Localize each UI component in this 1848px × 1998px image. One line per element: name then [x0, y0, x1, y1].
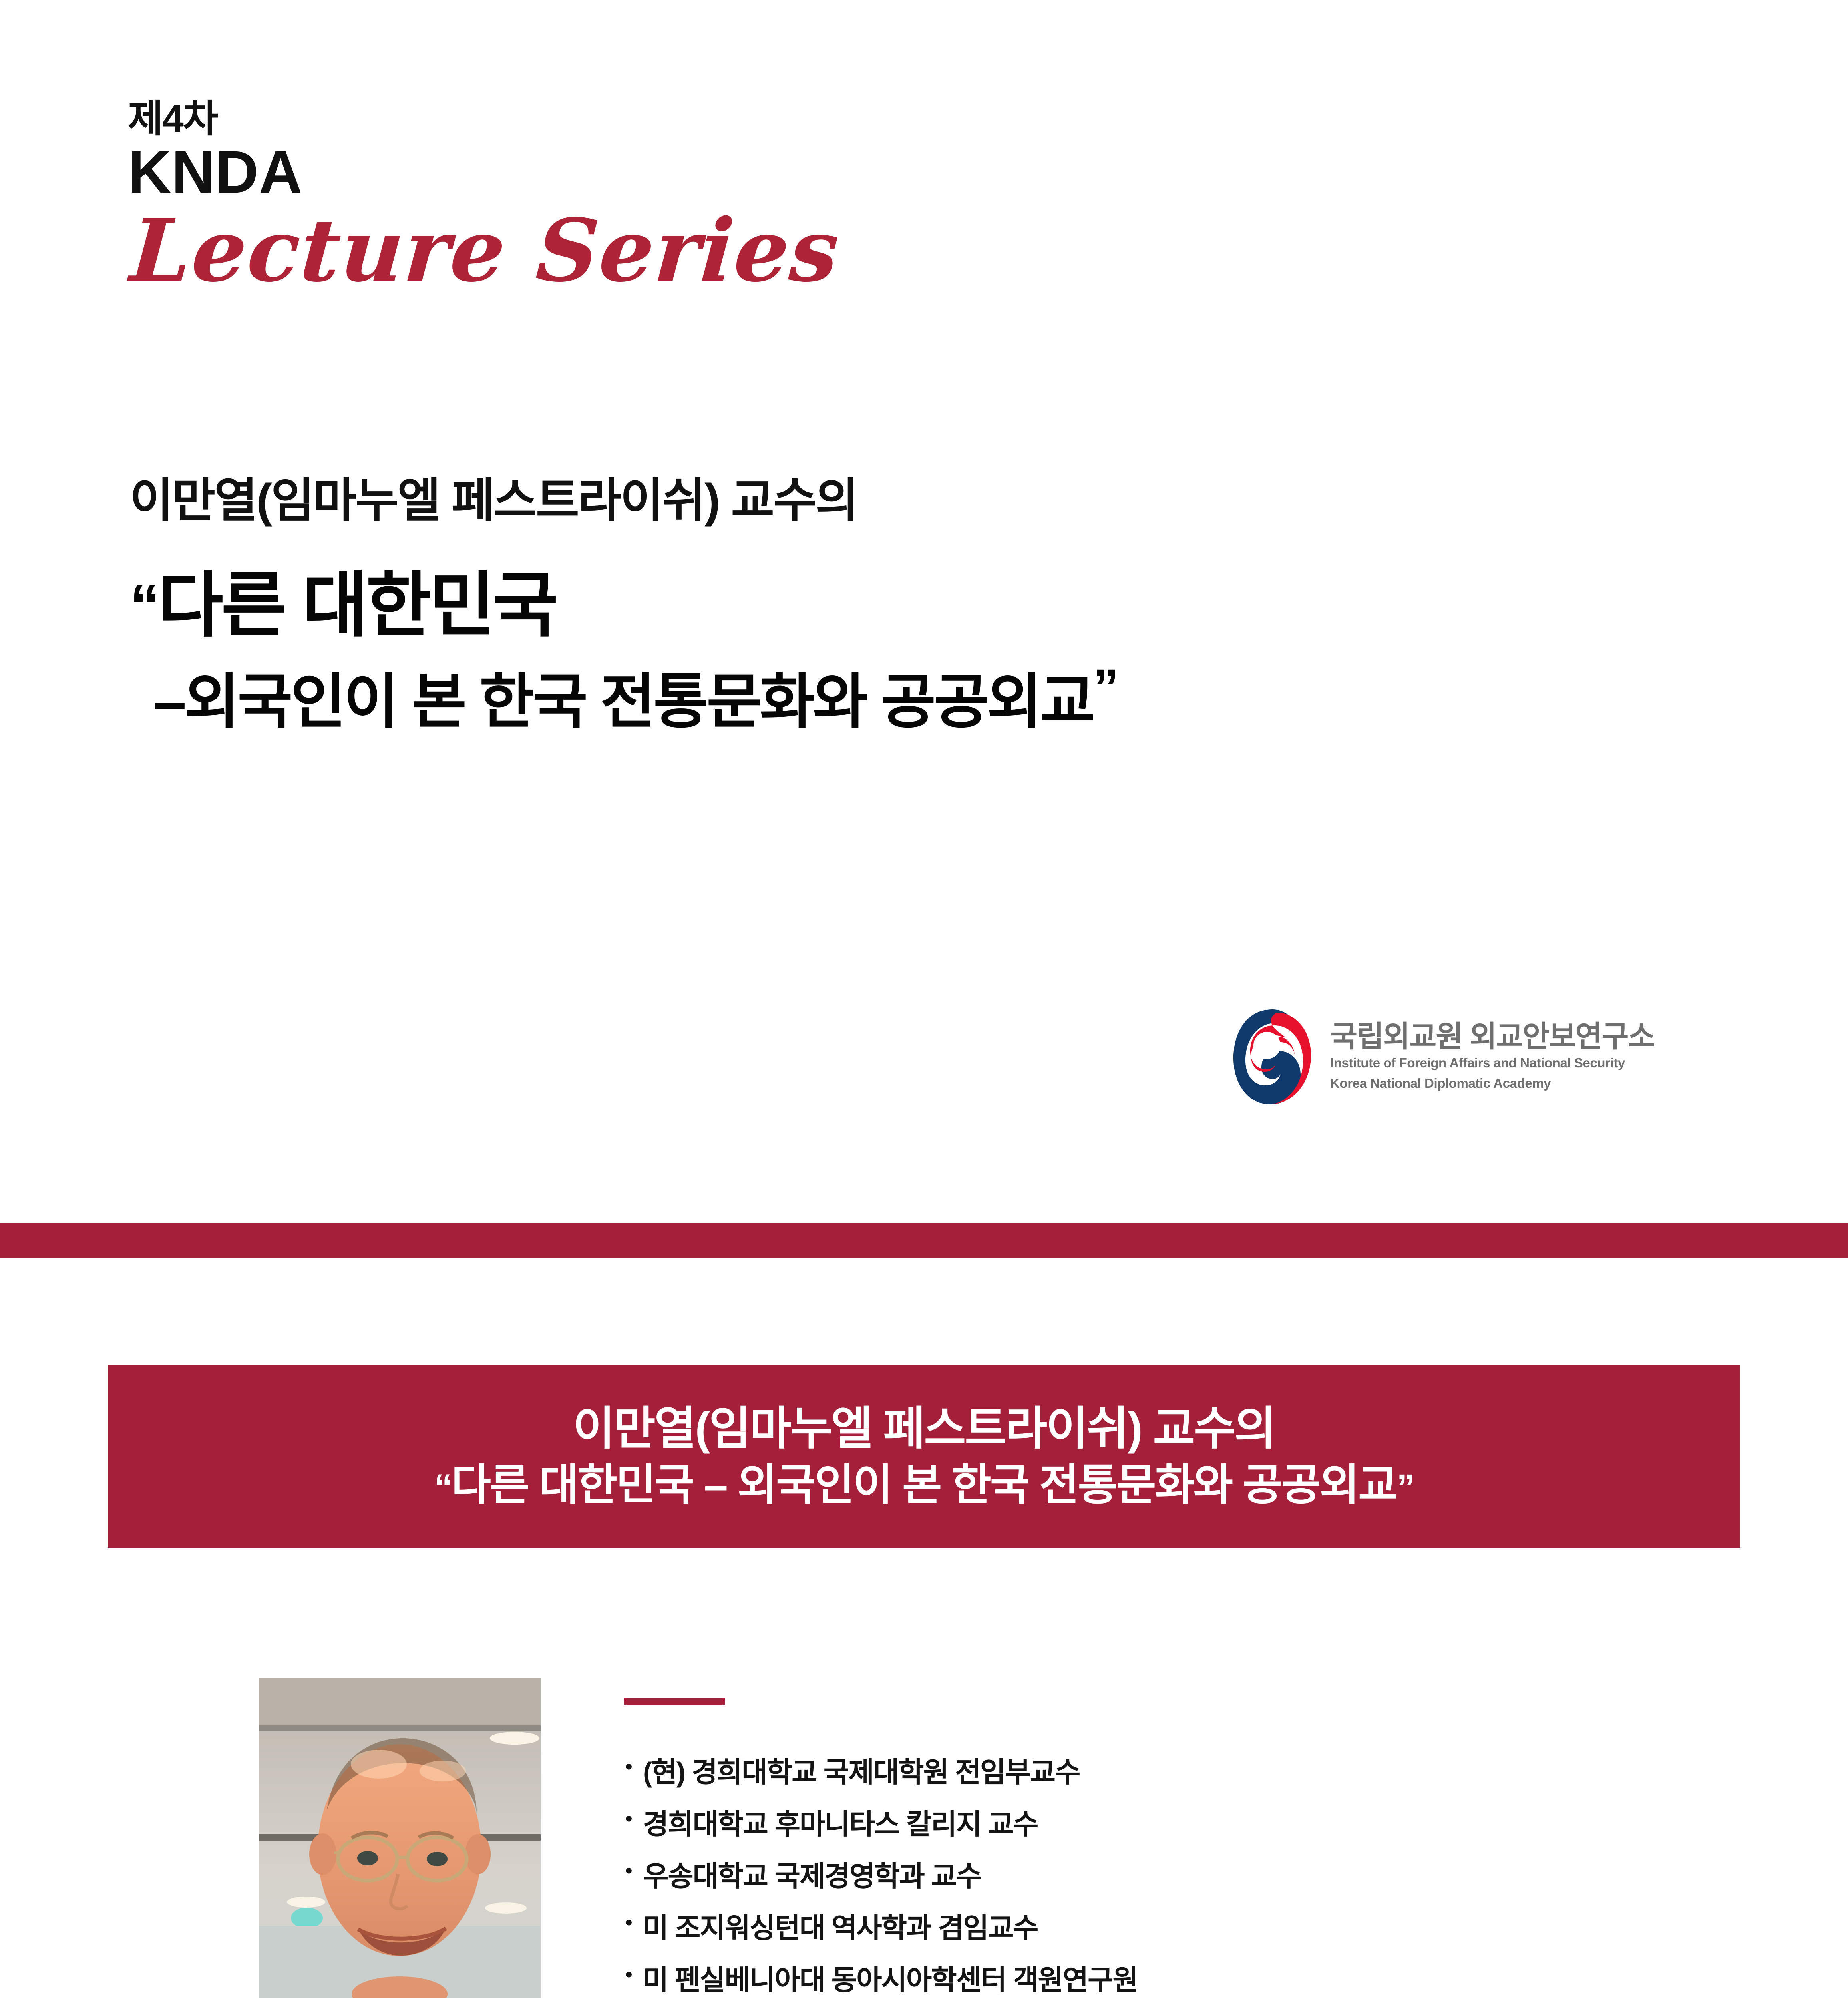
bio-item: 미 조지워싱턴대 역사학과 겸임교수 [625, 1914, 1664, 1942]
speaker-photo [259, 1678, 541, 1998]
banner-title-text: 다른 대한민국 – 외국인이 본 한국 전통문화와 공공외교 [451, 1461, 1396, 1509]
bio-rule-top [624, 1698, 725, 1705]
lecture-title-line2: –외국인이 본 한국 전통문화와 공공외교” [130, 657, 1117, 738]
speaker-bio: (현) 경희대학교 국제대학원 전임부교수 경희대학교 후마니타스 칼리지 교수… [625, 1758, 1664, 1998]
bio-item: 미 펜실베니아대 동아시아학센터 객원연구원 [625, 1966, 1664, 1994]
bio-item: 경희대학교 후마니타스 칼리지 교수 [625, 1810, 1664, 1838]
poster-canvas: 제4차 KNDA Lecture Series 이만열(임마누엘 페스트라이쉬)… [0, 0, 1848, 1998]
bio-item: 우송대학교 국제경영학과 교수 [625, 1862, 1664, 1890]
logo-text-block: 국립외교원 외교안보연구소 Institute of Foreign Affai… [1330, 1022, 1655, 1092]
quote-close: ” [1093, 659, 1117, 716]
main-title-block: 이만열(임마누엘 페스트라이쉬) 교수의 “다른 대한민국 –외국인이 본 한국… [130, 472, 1117, 738]
banner-title-line: “다른 대한민국 – 외국인이 본 한국 전통문화와 공공외교” [434, 1461, 1414, 1509]
bio-item: (현) 경희대학교 국제대학원 전임부교수 [625, 1758, 1664, 1786]
series-title: Lecture Series [128, 205, 842, 296]
taegeuk-icon [1229, 1007, 1317, 1107]
bio-list: (현) 경희대학교 국제대학원 전임부교수 경희대학교 후마니타스 칼리지 교수… [625, 1758, 1664, 1994]
lecture-title-line1: “다른 대한민국 [130, 562, 1117, 649]
banner-quote-open: “ [434, 1467, 451, 1508]
logo-korean-name: 국립외교원 외교안보연구소 [1330, 1022, 1655, 1051]
lecture-banner: 이만열(임마누엘 페스트라이쉬) 교수의 “다른 대한민국 – 외국인이 본 한… [108, 1365, 1740, 1548]
poster-header: 제4차 KNDA Lecture Series [128, 100, 836, 296]
org-abbr: KNDA [128, 138, 836, 205]
quote-open: “ [130, 572, 158, 639]
edition-label: 제4차 [128, 100, 836, 138]
section-divider-bar [0, 1223, 1848, 1258]
lecture-title-text2: –외국인이 본 한국 전통문화와 공공외교 [153, 668, 1093, 735]
lecture-title-text1: 다른 대한민국 [158, 565, 556, 645]
speaker-line: 이만열(임마누엘 페스트라이쉬) 교수의 [130, 472, 1117, 531]
banner-speaker-line: 이만열(임마누엘 페스트라이쉬) 교수의 [573, 1404, 1275, 1454]
institution-logo: 국립외교원 외교안보연구소 Institute of Foreign Affai… [1229, 1007, 1655, 1107]
logo-english-line1: Institute of Foreign Affairs and Nationa… [1330, 1055, 1655, 1072]
logo-english-line2: Korea National Diplomatic Academy [1330, 1075, 1655, 1092]
banner-quote-close: ” [1397, 1467, 1414, 1508]
